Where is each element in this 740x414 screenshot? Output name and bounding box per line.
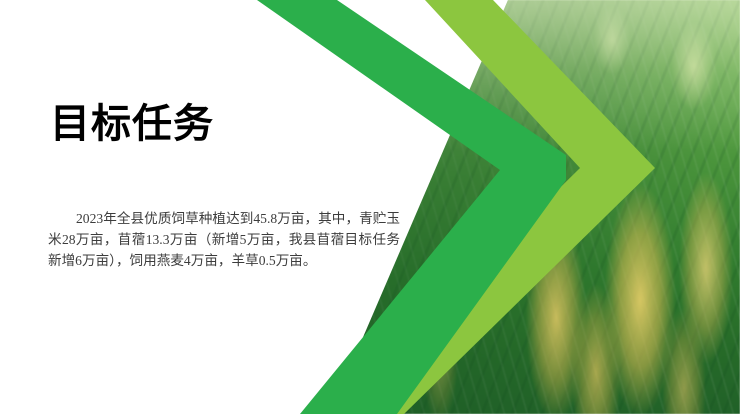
page-title: 目标任务 [50, 101, 214, 147]
rice-field-photo [0, 0, 740, 414]
rice-field-photo-image [0, 0, 740, 414]
body-paragraph: 2023年全县优质饲草种植达到45.8万亩，其中，青贮玉米28万亩，苜蓿13.3… [48, 208, 400, 271]
slide-canvas: 目标任务 2023年全县优质饲草种植达到45.8万亩，其中，青贮玉米28万亩，苜… [0, 0, 740, 414]
